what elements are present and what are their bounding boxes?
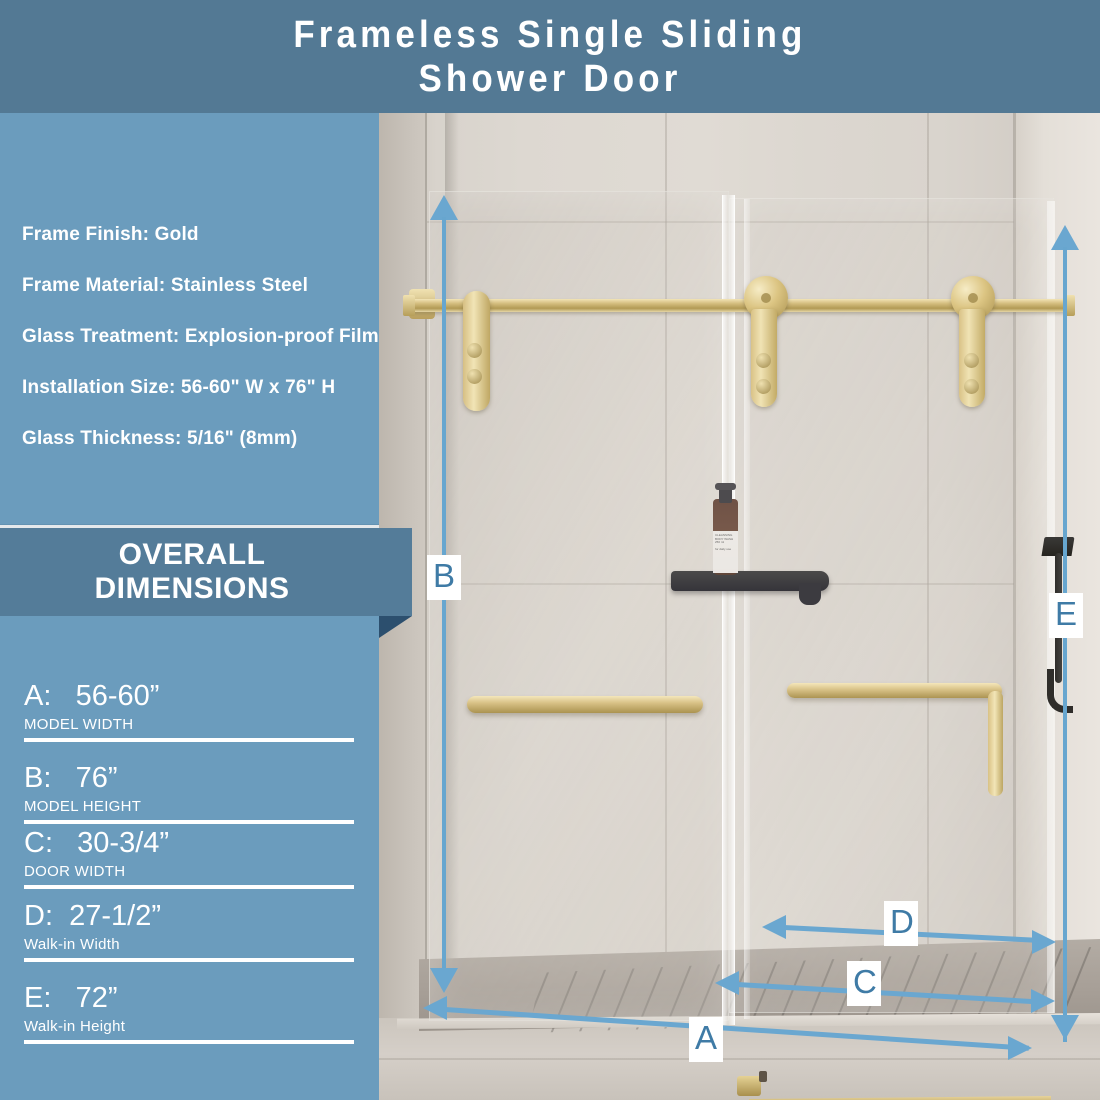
dimension-label-a: MODEL WIDTH xyxy=(24,715,354,734)
dimension-code-b: B: 76” xyxy=(24,762,354,795)
fixed-panel-towel-bar xyxy=(467,696,703,713)
shower-hose-curve xyxy=(1047,669,1073,713)
dim-d-arrowhead-right xyxy=(1032,930,1056,954)
dimension-row-a: A: 56-60” MODEL WIDTH xyxy=(24,680,354,742)
spec-installation-size: Installation Size: 56-60" W x 76" H xyxy=(22,375,380,400)
spec-list: Frame Finish: Gold Frame Material: Stain… xyxy=(22,222,380,477)
dimension-code-e: E: 72” xyxy=(24,982,354,1015)
glass-edge-highlight xyxy=(744,199,750,1019)
dim-a-arrowhead-left xyxy=(423,996,447,1020)
door-handle-bar xyxy=(787,683,1002,698)
floor-tile-seam xyxy=(379,1058,1100,1060)
door-stopper-pin xyxy=(759,1071,767,1082)
product-spec-infographic: Frameless Single Sliding Shower Door xyxy=(0,0,1100,1100)
door-handle-leg xyxy=(988,691,1003,796)
roller-bracket xyxy=(959,309,985,407)
dimension-code-a: A: 56-60” xyxy=(24,680,354,713)
dim-a-arrowhead-right xyxy=(1008,1036,1032,1060)
dim-label-a: A xyxy=(689,1017,723,1062)
row-divider xyxy=(24,820,354,824)
dim-label-c: C xyxy=(847,961,881,1006)
sliding-glass-door-panel xyxy=(729,198,1054,1013)
dim-label-d: D xyxy=(884,901,918,946)
dimension-row-e: E: 72” Walk-in Height xyxy=(24,982,354,1044)
door-stopper xyxy=(737,1076,761,1096)
dimension-row-c: C: 30-3/4” DOOR WIDTH xyxy=(24,827,354,889)
overall-dimensions-banner: OVERALL DIMENSIONS xyxy=(0,528,412,616)
dimension-label-d: Walk-in Width xyxy=(24,935,354,954)
page-title-line-2: Shower Door xyxy=(418,57,681,101)
bottle-label: CLEANSINGBODY WASH250 mlfor daily use xyxy=(713,531,738,573)
banner-line-2: DIMENSIONS xyxy=(94,572,289,605)
dimension-row-d: D: 27-1/2” Walk-in Width xyxy=(24,900,354,962)
sliding-door-leading-edge xyxy=(722,195,735,1025)
dim-c-arrowhead-left xyxy=(715,971,739,995)
dimension-row-b: B: 76” MODEL HEIGHT xyxy=(24,762,354,824)
spec-frame-material: Frame Material: Stainless Steel xyxy=(22,273,380,298)
dim-d-arrowhead-left xyxy=(762,915,786,939)
corner-shelf-bracket xyxy=(799,583,821,605)
soap-pump-head xyxy=(715,483,736,490)
dim-e-arrowhead-bottom xyxy=(1051,1015,1079,1040)
row-divider xyxy=(24,958,354,962)
page-header: Frameless Single Sliding Shower Door xyxy=(0,0,1100,113)
dimension-code-d: D: 27-1/2” xyxy=(24,900,354,933)
roller-bracket xyxy=(751,309,777,407)
dimension-label-e: Walk-in Height xyxy=(24,1017,354,1036)
wall-corner-edge xyxy=(425,113,427,1100)
rail-end-cap xyxy=(403,295,415,316)
row-divider xyxy=(24,1040,354,1044)
row-divider xyxy=(24,885,354,889)
dim-c-arrowhead-right xyxy=(1031,989,1055,1013)
page-title-line-1: Frameless Single Sliding xyxy=(293,13,806,57)
spec-glass-thickness: Glass Thickness: 5/16" (8mm) xyxy=(22,426,380,451)
dim-label-e: E xyxy=(1049,593,1083,638)
dim-label-b: B xyxy=(427,555,461,600)
spec-glass-treatment: Glass Treatment: Explosion-proof Film xyxy=(22,324,380,349)
dimension-code-c: C: 30-3/4” xyxy=(24,827,354,860)
row-divider xyxy=(24,738,354,742)
product-photo-panel: CLEANSINGBODY WASH250 mlfor daily use xyxy=(379,113,1100,1100)
dim-e-line xyxy=(1063,247,1067,1042)
dimension-label-b: MODEL HEIGHT xyxy=(24,797,354,816)
dim-b-arrowhead-bottom xyxy=(430,968,458,993)
fixed-panel-clamp xyxy=(463,291,490,411)
dimension-label-c: DOOR WIDTH xyxy=(24,862,354,881)
banner-line-1: OVERALL xyxy=(119,538,266,571)
spec-frame-finish: Frame Finish: Gold xyxy=(22,222,380,247)
